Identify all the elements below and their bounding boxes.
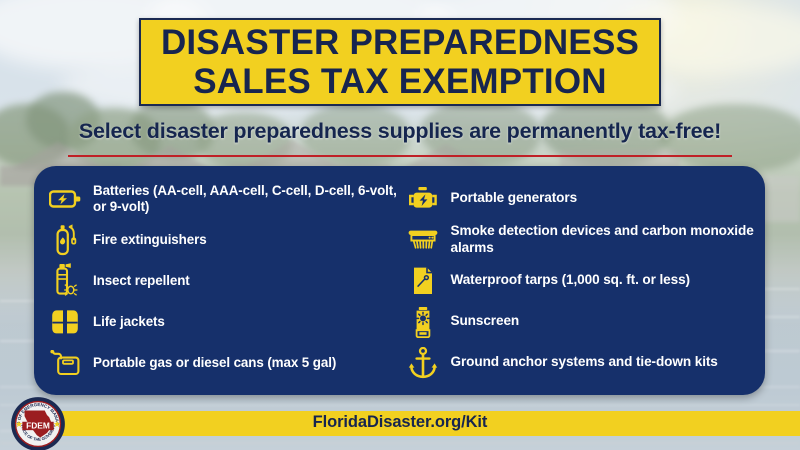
list-item: Smoke detection devices and carbon monox… xyxy=(406,220,756,260)
sunscreen-icon xyxy=(406,302,440,342)
title-line-2: SALES TAX EXEMPTION xyxy=(193,62,606,101)
list-item: Batteries (AA-cell, AAA-cell, C-cell, D-… xyxy=(48,179,398,219)
battery-icon xyxy=(48,179,82,219)
list-item: Fire extinguishers xyxy=(48,220,398,260)
fdem-logo: DIVISION OF EMERGENCY MANAGEMENT OFFICE … xyxy=(10,396,66,450)
subtitle: Select disaster preparedness supplies ar… xyxy=(0,119,800,144)
list-item-label: Smoke detection devices and carbon monox… xyxy=(451,223,756,255)
list-item: Waterproof tarps (1,000 sq. ft. or less) xyxy=(406,261,756,301)
fire-extinguisher-icon xyxy=(48,220,82,260)
divider-rule xyxy=(68,155,732,157)
anchor-icon xyxy=(406,343,440,383)
supplies-column-right: Portable generators Smoke detection devi… xyxy=(398,178,756,383)
list-item: Sunscreen xyxy=(406,302,756,342)
list-item-label: Portable gas or diesel cans (max 5 gal) xyxy=(93,355,336,371)
smoke-detector-icon xyxy=(406,220,440,260)
generator-icon xyxy=(406,179,440,219)
tarp-icon xyxy=(406,261,440,301)
svg-text:FDEM: FDEM xyxy=(26,420,50,430)
list-item-label: Fire extinguishers xyxy=(93,232,207,248)
life-jacket-icon xyxy=(48,302,82,342)
list-item: Life jackets xyxy=(48,302,398,342)
list-item-label: Waterproof tarps (1,000 sq. ft. or less) xyxy=(451,272,691,288)
title-banner: DISASTER PREPAREDNESS SALES TAX EXEMPTIO… xyxy=(139,18,661,106)
title-line-1: DISASTER PREPAREDNESS xyxy=(161,23,639,62)
list-item: Portable generators xyxy=(406,179,756,219)
list-item-label: Insect repellent xyxy=(93,273,190,289)
list-item-label: Ground anchor systems and tie-down kits xyxy=(451,354,718,370)
list-item-label: Batteries (AA-cell, AAA-cell, C-cell, D-… xyxy=(93,183,398,215)
supplies-column-left: Batteries (AA-cell, AAA-cell, C-cell, D-… xyxy=(48,178,398,383)
supplies-panel: Batteries (AA-cell, AAA-cell, C-cell, D-… xyxy=(34,166,765,395)
list-item-label: Life jackets xyxy=(93,314,165,330)
list-item-label: Portable generators xyxy=(451,190,578,206)
list-item-label: Sunscreen xyxy=(451,313,520,329)
gas-can-icon xyxy=(48,343,82,383)
footer-url[interactable]: FloridaDisaster.org/Kit xyxy=(0,413,800,432)
list-item: Portable gas or diesel cans (max 5 gal) xyxy=(48,343,398,383)
insect-repellent-icon xyxy=(48,261,82,301)
infographic-canvas: DISASTER PREPAREDNESS SALES TAX EXEMPTIO… xyxy=(0,0,800,450)
list-item: Ground anchor systems and tie-down kits xyxy=(406,343,756,383)
list-item: Insect repellent xyxy=(48,261,398,301)
